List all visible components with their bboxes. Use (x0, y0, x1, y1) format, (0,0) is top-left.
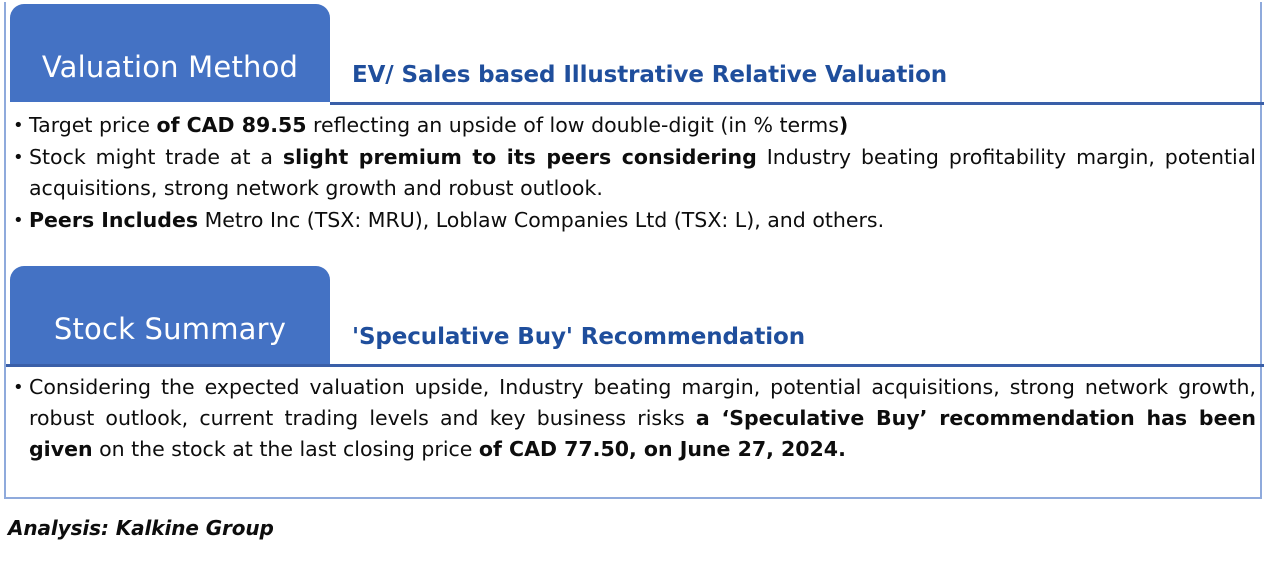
valuation-heading: EV/ Sales based Illustrative Relative Va… (352, 62, 947, 88)
valuation-bullet-list: Target price of CAD 89.55 reflecting an … (10, 110, 1256, 236)
summary-body: Considering the expected valuation upsid… (10, 372, 1256, 466)
list-item: Target price of CAD 89.55 reflecting an … (10, 110, 1256, 141)
valuation-heading-row: EV/ Sales based Illustrative Relative Va… (330, 4, 1260, 102)
tab-stock-summary-label: Stock Summary (10, 315, 330, 344)
list-item: Considering the expected valuation upsid… (10, 372, 1256, 465)
tab-valuation-method: Valuation Method (10, 4, 330, 102)
summary-divider (6, 364, 1264, 367)
summary-bullet-list: Considering the expected valuation upsid… (10, 372, 1256, 465)
list-item: Peers Includes Metro Inc (TSX: MRU), Lob… (10, 205, 1256, 236)
tab-stock-summary: Stock Summary (10, 266, 330, 364)
tab-valuation-method-label: Valuation Method (10, 53, 330, 82)
valuation-body: Target price of CAD 89.55 reflecting an … (10, 110, 1256, 237)
list-item: Stock might trade at a slight premium to… (10, 142, 1256, 204)
valuation-summary-card: Valuation Method EV/ Sales based Illustr… (0, 0, 1268, 561)
summary-heading-row: 'Speculative Buy' Recommendation (330, 266, 1260, 364)
analysis-attribution: Analysis: Kalkine Group (8, 516, 274, 540)
summary-heading: 'Speculative Buy' Recommendation (352, 324, 805, 350)
valuation-divider (330, 102, 1264, 105)
